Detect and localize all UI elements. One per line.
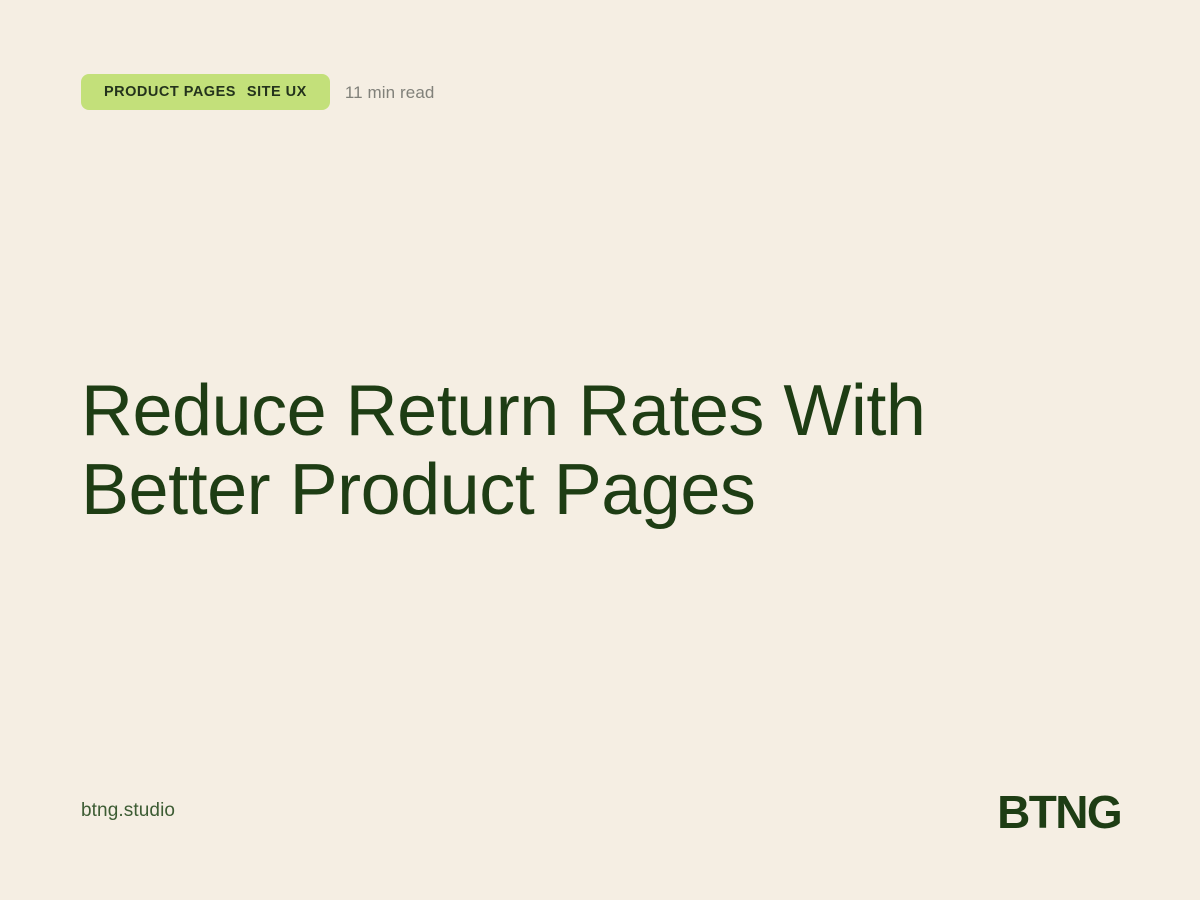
page-title-line-1: Reduce Return Rates With — [81, 372, 1081, 451]
meta-row: PRODUCT PAGES SITE UX 11 min read — [81, 74, 434, 110]
tag-product-pages[interactable]: PRODUCT PAGES — [104, 85, 236, 100]
btng-wordmark-logo[interactable]: BTNG — [997, 789, 1121, 835]
page-title-line-2: Better Product Pages — [81, 451, 1081, 530]
page-title: Reduce Return Rates With Better Product … — [81, 372, 1081, 530]
read-time-label: 11 min read — [345, 84, 435, 101]
tag-site-ux[interactable]: SITE UX — [247, 85, 307, 100]
site-url-label[interactable]: btng.studio — [81, 800, 175, 823]
article-cover-card: PRODUCT PAGES SITE UX 11 min read Reduce… — [0, 0, 1200, 900]
category-tag-pill[interactable]: PRODUCT PAGES SITE UX — [81, 74, 330, 110]
